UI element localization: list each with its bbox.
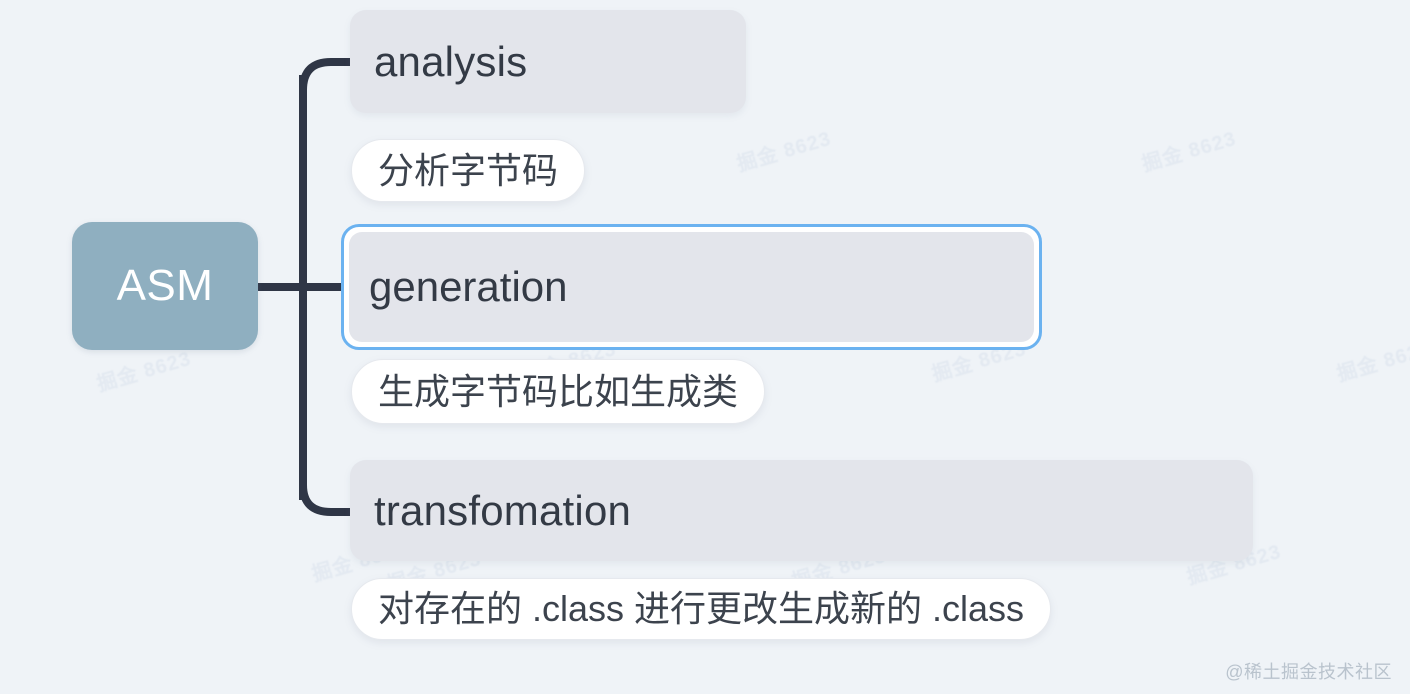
- background-watermark: 掘金 8623: [1138, 122, 1239, 177]
- topic-label-analysis: analysis: [374, 41, 527, 83]
- note-node-analysis[interactable]: 分析字节码: [351, 139, 585, 202]
- background-watermark: 掘金 8623: [733, 122, 834, 177]
- background-watermark: 掘金 8623: [93, 342, 194, 397]
- root-node-label: ASM: [117, 261, 214, 311]
- topic-node-analysis[interactable]: analysis: [350, 10, 746, 113]
- note-node-transfomation[interactable]: 对存在的 .class 进行更改生成新的 .class: [351, 578, 1051, 640]
- note-node-generation[interactable]: 生成字节码比如生成类: [351, 359, 765, 424]
- topic-label-transfomation: transfomation: [374, 490, 631, 532]
- topic-node-transfomation[interactable]: transfomation: [350, 460, 1253, 561]
- note-label-generation: 生成字节码比如生成类: [378, 374, 738, 410]
- note-label-transfomation: 对存在的 .class 进行更改生成新的 .class: [378, 591, 1024, 627]
- note-label-analysis: 分析字节码: [378, 153, 558, 189]
- mindmap-canvas: 掘金 8623 掘金 8623 掘金 8623 掘金 8623 掘金 8623 …: [0, 0, 1410, 694]
- corner-watermark: @稀土掘金技术社区: [1225, 658, 1392, 684]
- topic-label-generation: generation: [369, 266, 568, 308]
- background-watermark: 掘金 8623: [1333, 332, 1410, 387]
- topic-node-generation-inner: generation: [349, 232, 1034, 342]
- topic-node-generation-selected[interactable]: generation: [341, 224, 1042, 350]
- root-node-asm[interactable]: ASM: [72, 222, 258, 350]
